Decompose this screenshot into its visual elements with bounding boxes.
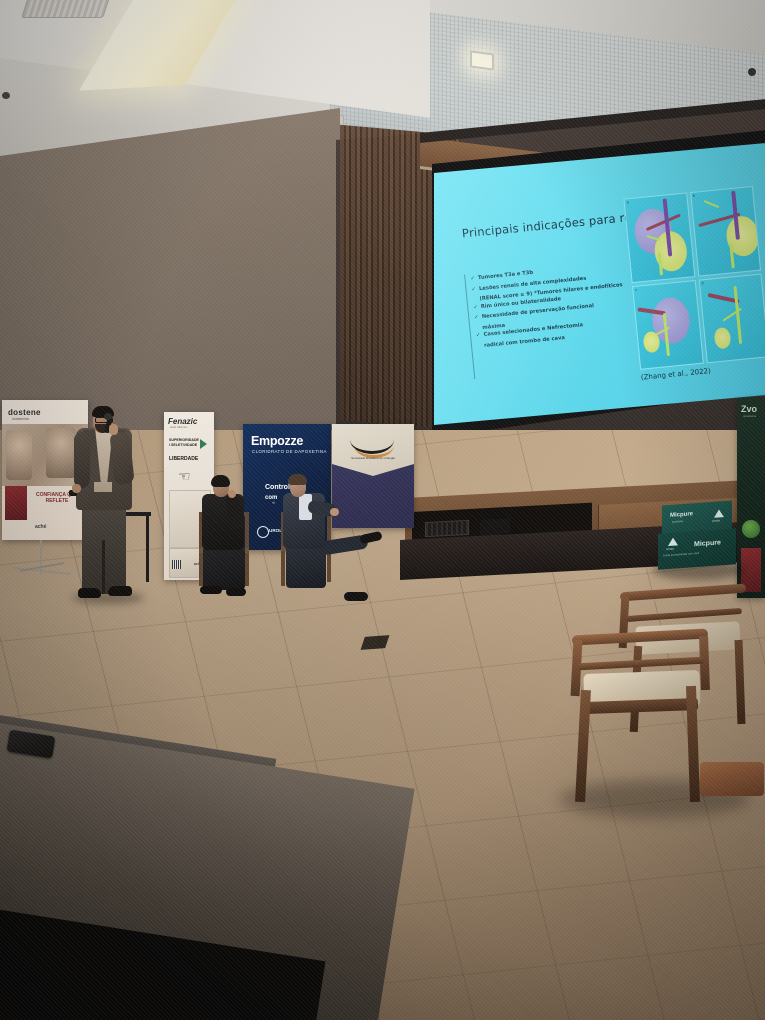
ct-reconstruction-c: c [632, 280, 703, 370]
slide-bullet-list: ✓ Tumores T3a e T3b ✓ Lesões renais de a… [470, 260, 637, 350]
panelist-right-hand [330, 508, 339, 516]
urologic-logo-icon [257, 526, 269, 538]
panelist-left-shoe-a [200, 586, 222, 594]
speaker-arm-left [74, 432, 90, 488]
banner-empozze-subtitle: CLORIDRATO DE DAPOXETINA [252, 449, 327, 454]
ct-reconstruction-a: a [623, 192, 694, 282]
check-icon: ✓ [473, 304, 478, 311]
panelist-right-shoe-b [344, 592, 368, 601]
banner-zvo-brand: Zvo [741, 404, 757, 414]
speaker-hand-left [72, 484, 81, 493]
person-silhouette-icon: ☜ [178, 468, 192, 486]
floor-marker-tape [361, 635, 390, 650]
product-company: APSEN [666, 548, 674, 552]
panelist-left-hand [228, 490, 236, 498]
panelist-left-shoe-b [226, 588, 246, 596]
banner-dostene-company: aché [35, 524, 46, 530]
banner-zvo-subtitle: tansulosina [743, 415, 756, 418]
check-icon: ✓ [470, 276, 475, 283]
speaker-shoe-left [78, 588, 101, 598]
check-icon: ✓ [476, 332, 481, 339]
banner-person-photo-right [46, 428, 76, 478]
banner-fenazic-subtitle: ácido niflúmico [170, 426, 187, 429]
apsen-triangle-icon [668, 537, 678, 546]
square-spotlight-icon [470, 50, 494, 70]
check-icon: ✓ [474, 315, 479, 322]
qr-code-icon [172, 560, 181, 569]
product-brand: Micpure [670, 511, 693, 519]
projection-screen[interactable]: Principais indicações para robótica ✓ Tu… [424, 143, 765, 425]
banner-fenazic-claim-2: I SELETIVIDADE [169, 443, 197, 447]
check-icon: ✓ [471, 286, 476, 293]
banner-empozze-infinity: ∞ [272, 500, 275, 505]
product-tagline: A vida acompanhada com você [663, 550, 723, 558]
ct-reconstruction-b: b [690, 186, 761, 276]
arrow-right-icon [200, 439, 207, 449]
slide-citation: (Zhang et al., 2022) [641, 367, 712, 382]
banner-person-photo-left [6, 430, 32, 480]
speaker-shoe-right [108, 586, 132, 596]
conference-room-photo: Principais indicações para robótica ✓ Tu… [0, 0, 765, 1020]
banner-institutional-head: Sociedade Brasileira de Urologia [332, 424, 414, 476]
banner-fenazic-claim-3: LIBERDADE [169, 456, 198, 462]
wall-left-beige [0, 108, 340, 438]
figure-label: b [693, 194, 695, 198]
slide-figure-grid: a b c [623, 186, 765, 370]
panelist-left-hair [211, 475, 230, 487]
figure-label: d [701, 281, 703, 285]
ceiling-speaker-left [2, 92, 10, 99]
banner-fenazic-brand: Fenazic [168, 417, 197, 426]
speaker-leg-gap [102, 540, 105, 594]
microphone-head-icon [104, 413, 112, 420]
panelist-right-hair [288, 474, 307, 485]
speaker-hand-right [109, 424, 118, 435]
product-company: APSEN [712, 519, 720, 523]
banner-institutional: Sociedade Brasileira de Urologia [332, 424, 414, 528]
apsen-triangle-icon [714, 509, 724, 518]
air-conditioner-vent [21, 0, 111, 18]
product-brand: Micpure [694, 539, 721, 548]
banner-dostene-brand: dostene [8, 408, 41, 417]
banner-empozze-brand: Empozze [251, 434, 303, 448]
banner-dostene-subtitle: dutasterida [12, 417, 29, 421]
banner-zvo-circle-graphic [742, 520, 760, 538]
banner-fenazic-claim-1: SUPERIORIDADE [169, 438, 199, 442]
av-mixer[interactable] [425, 520, 469, 537]
planter-pot [700, 762, 764, 796]
ct-reconstruction-d: d [698, 273, 765, 363]
product-subtitle: probiótico [672, 520, 683, 524]
banner-dostene-product-box [5, 486, 27, 520]
figure-label: a [627, 200, 629, 204]
panelist-left-legs [203, 546, 245, 590]
bar-stool-leg-b [146, 516, 149, 582]
ceiling-speaker-right [748, 68, 756, 76]
presentation-slide: Principais indicações para robótica ✓ Tu… [424, 143, 765, 425]
product-box-micpure-bottom: Micpure APSEN A vida acompanhada com voc… [658, 528, 736, 569]
banner-institutional-caption: Sociedade Brasileira de Urologia [348, 457, 398, 461]
figure-label: c [635, 287, 637, 291]
